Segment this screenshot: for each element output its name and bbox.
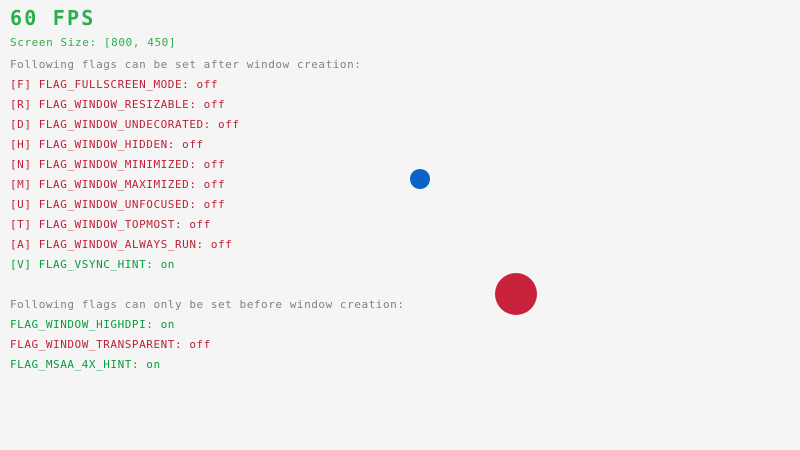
flag-row-msaa-4x-hint: FLAG_MSAA_4X_HINT: on [10,359,161,370]
blue-circle-shape [410,169,430,189]
flag-row-window-unfocused[interactable]: [U] FLAG_WINDOW_UNFOCUSED: off [10,199,225,210]
flag-row-window-always-run[interactable]: [A] FLAG_WINDOW_ALWAYS_RUN: off [10,239,232,250]
red-circle-shape [495,273,537,315]
flag-row-window-hidden[interactable]: [H] FLAG_WINDOW_HIDDEN: off [10,139,204,150]
fps-counter: 60 FPS [10,8,95,28]
flag-row-window-topmost[interactable]: [T] FLAG_WINDOW_TOPMOST: off [10,219,211,230]
flag-row-window-minimized[interactable]: [N] FLAG_WINDOW_MINIMIZED: off [10,159,225,170]
flag-row-window-highdpi: FLAG_WINDOW_HIGHDPI: on [10,319,175,330]
flag-row-window-maximized[interactable]: [M] FLAG_WINDOW_MAXIMIZED: off [10,179,225,190]
flag-row-window-resizable[interactable]: [R] FLAG_WINDOW_RESIZABLE: off [10,99,225,110]
screen-size-label: Screen Size: [800, 450] [10,37,176,48]
flag-row-fullscreen-mode[interactable]: [F] FLAG_FULLSCREEN_MODE: off [10,79,218,90]
runtime-flags-header: Following flags can be set after window … [10,59,361,70]
raylib-window-canvas: 60 FPS Screen Size: [800, 450] Following… [0,0,800,450]
flag-row-window-transparent: FLAG_WINDOW_TRANSPARENT: off [10,339,211,350]
flag-row-window-undecorated[interactable]: [D] FLAG_WINDOW_UNDECORATED: off [10,119,240,130]
flag-row-vsync-hint[interactable]: [V] FLAG_VSYNC_HINT: on [10,259,175,270]
creation-flags-header: Following flags can only be set before w… [10,299,405,310]
